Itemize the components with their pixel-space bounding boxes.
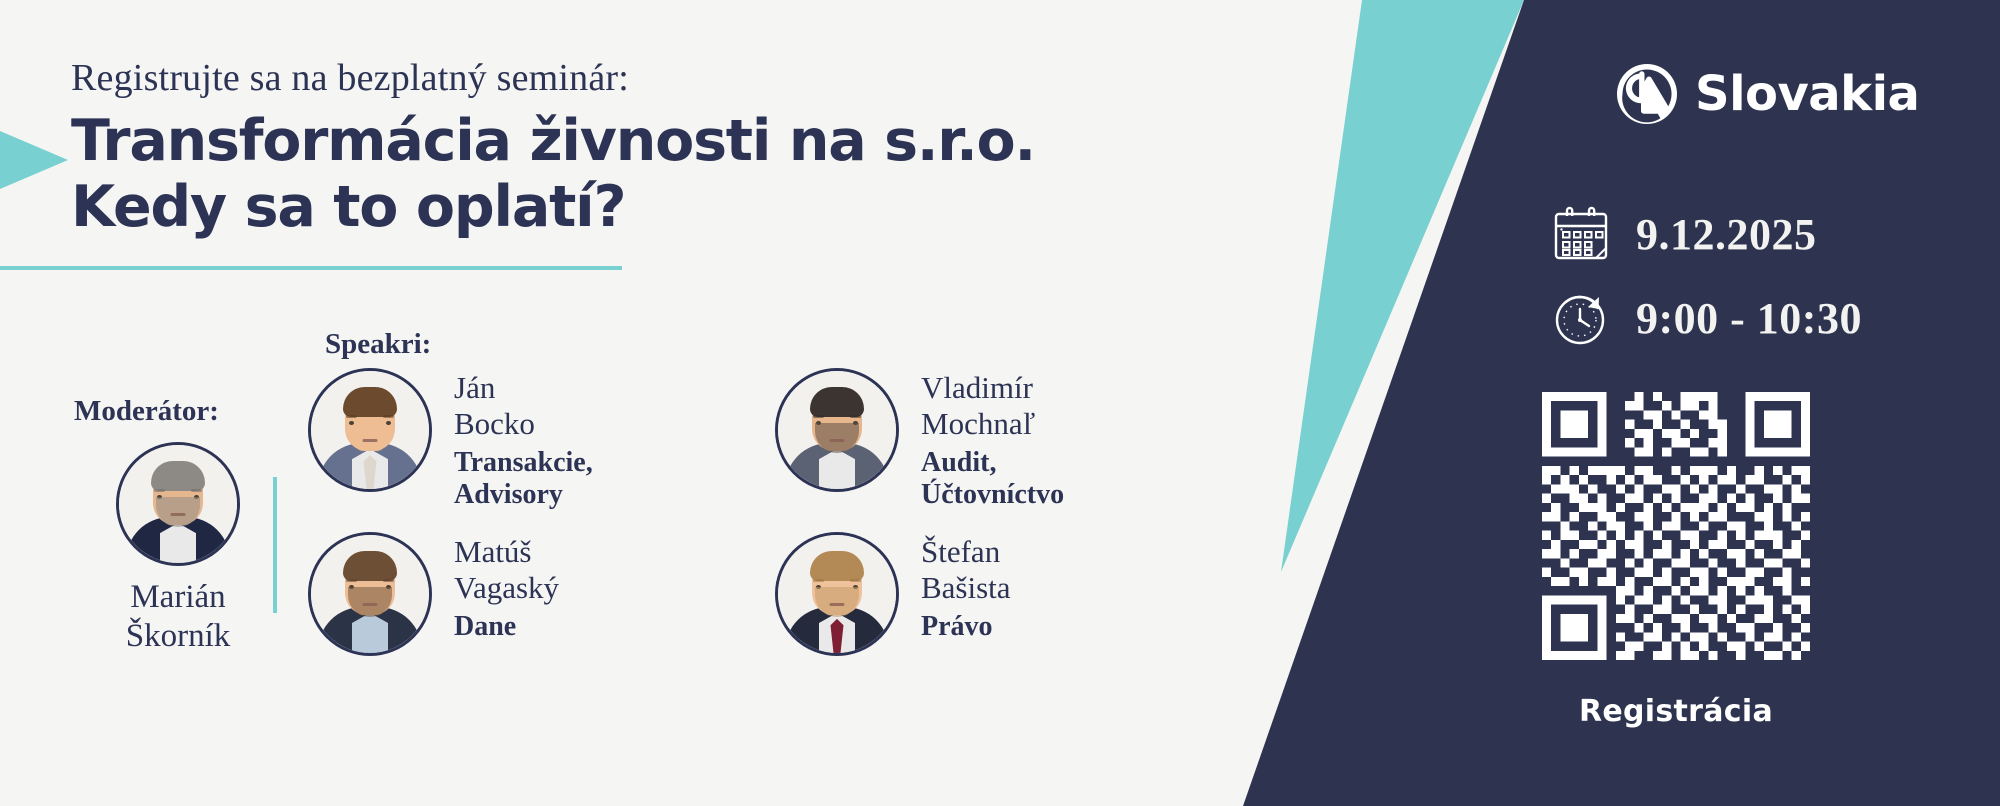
speaker-name-line-1: Matúš bbox=[454, 534, 559, 570]
speaker-name: Vladimír Mochnaľ bbox=[921, 370, 1064, 442]
speaker-role: Audit, Účtovníctvo bbox=[921, 447, 1064, 512]
speaker-card: Ján Bocko Transakcie, Advisory bbox=[308, 368, 748, 512]
registration-label[interactable]: Registrácia bbox=[1542, 694, 1810, 729]
qr-code-graphic[interactable] bbox=[1542, 392, 1810, 660]
speaker-role-line-1: Audit, bbox=[921, 447, 1064, 479]
brand-lockup: Slovakia bbox=[1615, 62, 1919, 126]
speaker-card: Vladimír Mochnaľ Audit, Účtovníctvo bbox=[775, 368, 1215, 512]
avatar bbox=[116, 442, 240, 566]
speaker-name-line-2: Bašista bbox=[921, 570, 1011, 606]
speaker-info: Ján Bocko Transakcie, Advisory bbox=[454, 368, 593, 512]
speaker-role-line-1: Právo bbox=[921, 611, 1011, 643]
speaker-name-line-1: Štefan bbox=[921, 534, 1011, 570]
moderator-name-line-1: Marián bbox=[78, 578, 278, 617]
speaker-name-line-2: Mochnaľ bbox=[921, 406, 1064, 442]
event-time: 9:00 - 10:30 bbox=[1636, 293, 1862, 344]
event-time-row: 9:00 - 10:30 bbox=[1552, 289, 1862, 347]
speaker-name-line-1: Ján bbox=[454, 370, 593, 406]
speaker-name: Štefan Bašista bbox=[921, 534, 1011, 606]
speaker-name-line-2: Bocko bbox=[454, 406, 593, 442]
speaker-card: Štefan Bašista Právo bbox=[775, 532, 1215, 656]
brand-name: Slovakia bbox=[1695, 66, 1919, 122]
avatar bbox=[775, 532, 899, 656]
speakers-label: Speakri: bbox=[325, 328, 431, 361]
speaker-name: Matúš Vagaský bbox=[454, 534, 559, 606]
kicker-text: Registrujte sa na bezplatný seminár: bbox=[71, 56, 629, 100]
speaker-name: Ján Bocko bbox=[454, 370, 593, 442]
speakers-row-1: Ján Bocko Transakcie, Advisory bbox=[308, 368, 1248, 512]
speaker-role: Transakcie, Advisory bbox=[454, 447, 593, 512]
avatar bbox=[308, 368, 432, 492]
headline-line-1: Transformácia živnosti na s.r.o. bbox=[71, 108, 1035, 174]
speaker-role-line-2: Advisory bbox=[454, 479, 593, 511]
event-meta: 9.12.2025 9:00 - 10:30 bbox=[1552, 205, 1862, 373]
speaker-role-line-1: Dane bbox=[454, 611, 559, 643]
event-date-row: 9.12.2025 bbox=[1552, 205, 1862, 263]
speaker-info: Vladimír Mochnaľ Audit, Účtovníctvo bbox=[921, 368, 1064, 512]
headline-line-2: Kedy sa to oplatí? bbox=[71, 174, 1035, 240]
speaker-info: Matúš Vagaský Dane bbox=[454, 532, 559, 656]
avatar bbox=[775, 368, 899, 492]
avatar bbox=[308, 532, 432, 656]
speaker-name-line-1: Vladimír bbox=[921, 370, 1064, 406]
moderator-label: Moderátor: bbox=[74, 395, 219, 428]
speakers-row-2: Matúš Vagaský Dane bbox=[308, 532, 1248, 656]
right-panel: Slovakia bbox=[1260, 0, 2000, 806]
clock-icon bbox=[1552, 289, 1610, 347]
arrow-accent-icon bbox=[0, 131, 68, 189]
left-content: Registrujte sa na bezplatný seminár: Tra… bbox=[0, 0, 1260, 806]
calendar-icon bbox=[1552, 205, 1610, 263]
speakers-grid: Ján Bocko Transakcie, Advisory bbox=[308, 368, 1248, 676]
speaker-role: Právo bbox=[921, 611, 1011, 643]
moderator-card: Marián Škorník bbox=[78, 442, 278, 656]
headline-divider bbox=[0, 266, 622, 270]
la-slovakia-logo-icon bbox=[1615, 62, 1679, 126]
page-title: Transformácia živnosti na s.r.o. Kedy sa… bbox=[71, 108, 1035, 240]
moderator-name: Marián Škorník bbox=[78, 578, 278, 656]
event-date: 9.12.2025 bbox=[1636, 209, 1817, 260]
speaker-role-line-2: Účtovníctvo bbox=[921, 479, 1064, 511]
speaker-role: Dane bbox=[454, 611, 559, 643]
registration-qr-code[interactable] bbox=[1542, 392, 1810, 660]
speaker-role-line-1: Transakcie, bbox=[454, 447, 593, 479]
speaker-info: Štefan Bašista Právo bbox=[921, 532, 1011, 656]
webinar-banner: Registrujte sa na bezplatný seminár: Tra… bbox=[0, 0, 2000, 806]
speaker-name-line-2: Vagaský bbox=[454, 570, 559, 606]
moderator-name-line-2: Škorník bbox=[78, 617, 278, 656]
speaker-card: Matúš Vagaský Dane bbox=[308, 532, 748, 656]
